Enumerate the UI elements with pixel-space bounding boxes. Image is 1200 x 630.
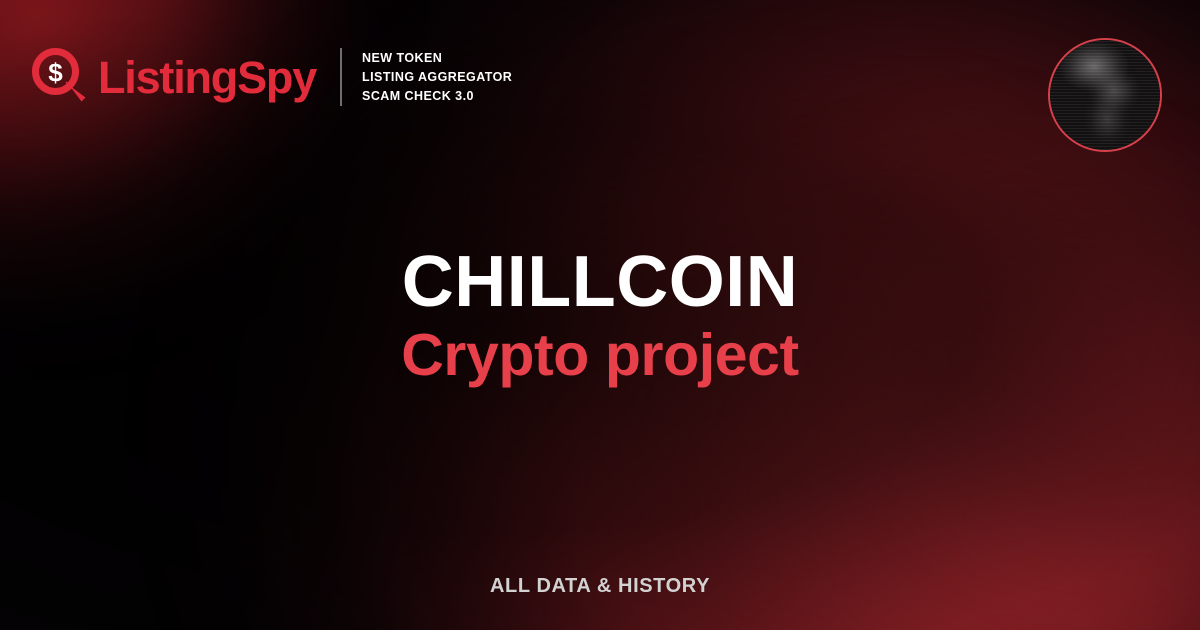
brand-tagline: NEW TOKEN LISTING AGGREGATOR SCAM CHECK … — [362, 49, 512, 106]
brand-header[interactable]: $ ListingSpy NEW TOKEN LISTING AGGREGATO… — [32, 48, 512, 106]
page-title: CHILLCOIN — [0, 246, 1200, 319]
tagline-line-1: NEW TOKEN — [362, 49, 512, 68]
hero-block: CHILLCOIN Crypto project — [0, 246, 1200, 387]
brand-wordmark-part1: Listing — [98, 52, 237, 103]
header-divider — [340, 48, 342, 106]
page-subtitle: Crypto project — [0, 325, 1200, 387]
footer-caption: ALL DATA & HISTORY — [490, 575, 710, 597]
footer-block: ALL DATA & HISTORY — [0, 575, 1200, 598]
token-avatar-image — [1050, 40, 1160, 150]
brand-wordmark: ListingSpy — [98, 55, 316, 100]
tagline-line-2: LISTING AGGREGATOR — [362, 68, 512, 87]
token-avatar[interactable] — [1048, 38, 1162, 152]
svg-text:$: $ — [48, 58, 63, 88]
tagline-line-3: SCAM CHECK 3.0 — [362, 87, 512, 106]
og-card: $ ListingSpy NEW TOKEN LISTING AGGREGATO… — [0, 0, 1200, 630]
brand-wordmark-part2: Spy — [237, 52, 316, 103]
magnifier-dollar-icon: $ — [32, 48, 90, 106]
